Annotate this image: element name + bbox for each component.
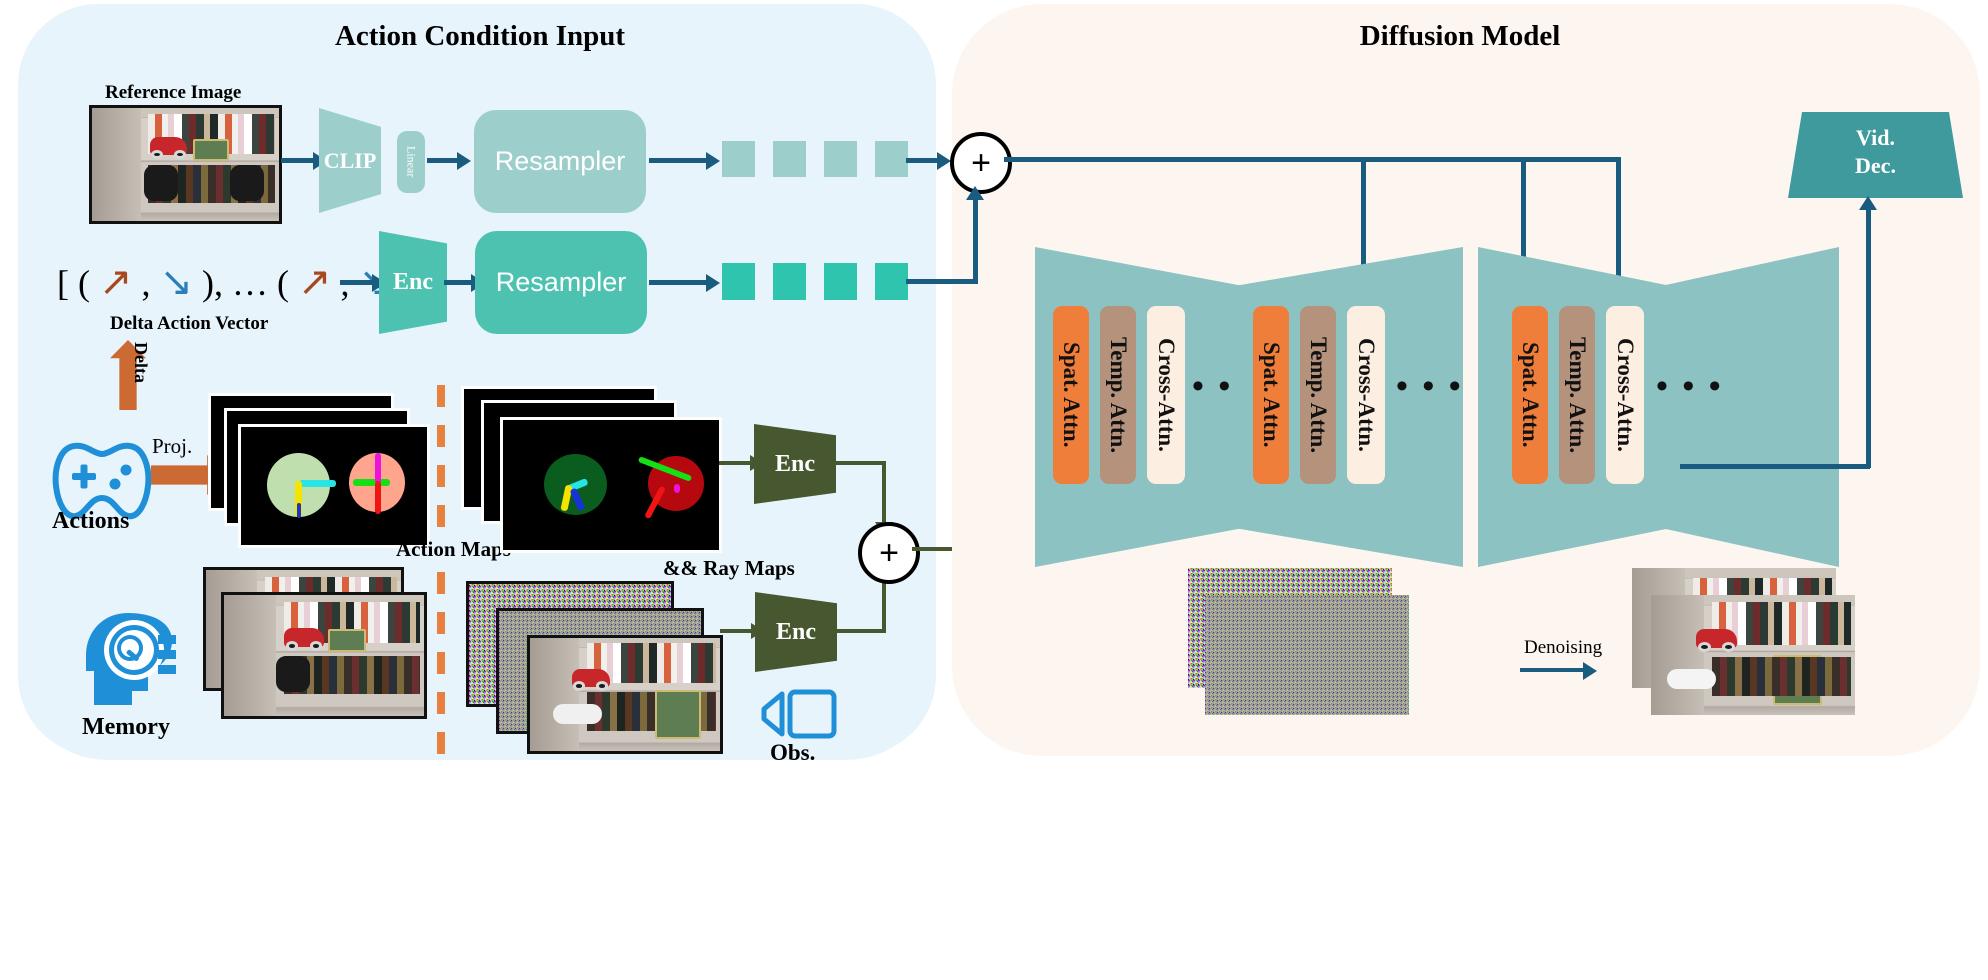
divider-action-maps — [437, 385, 445, 545]
connector-plus-upper-bus — [1004, 157, 1526, 162]
resampler-action-block[interactable]: Resampler — [475, 231, 647, 334]
unet-decoder-right-2 — [1664, 247, 1839, 567]
panel-title-action-condition: Action Condition Input — [220, 20, 740, 53]
ray-maps-label: && Ray Maps — [663, 556, 795, 581]
clip-label: CLIP — [324, 148, 377, 174]
vid-dec-line-1: Vid. — [1788, 124, 1963, 152]
connector-obs-to-enc — [720, 629, 752, 633]
connector-tokens-bottom-riser — [973, 196, 978, 284]
connector-raymaps-to-enc — [719, 461, 751, 465]
observation-encoder-block[interactable]: Enc — [755, 592, 837, 672]
cross-attention-block-1[interactable]: Cross-Attn. — [1147, 306, 1185, 484]
connector-resampler2-to-tokens — [649, 280, 707, 285]
image-token-3 — [824, 141, 857, 177]
arrowhead-linear-to-resampler — [457, 152, 471, 170]
connector-denoising — [1520, 668, 1584, 672]
spatial-attention-block-3[interactable]: Spat. Attn. — [1512, 306, 1548, 484]
ray-map-stick-magenta — [674, 484, 680, 493]
temporal-attention-label-3: Temp. Attn. — [1559, 306, 1595, 484]
denoising-label: Denoising — [1524, 637, 1602, 659]
connector-encmap-down — [882, 461, 886, 529]
enc-actionmap-label: Enc — [775, 451, 815, 478]
image-token-4 — [875, 141, 908, 177]
arrowhead-resampler2-to-tokens — [706, 274, 720, 292]
action-map-front — [238, 424, 430, 548]
action-map-stick-green — [353, 479, 390, 486]
connector-tokens-bottom-right — [906, 279, 978, 284]
spatial-attention-block-1[interactable]: Spat. Attn. — [1053, 306, 1089, 484]
ray-map-front — [500, 417, 722, 553]
proj-label: Proj. — [152, 434, 192, 459]
action-token-1 — [722, 263, 755, 300]
spatial-attention-block-2[interactable]: Spat. Attn. — [1253, 306, 1289, 484]
vid-dec-line-2: Dec. — [1788, 152, 1963, 180]
connector-linear-to-resampler — [427, 158, 457, 163]
connector-bus-extend — [1521, 157, 1621, 162]
reference-image-thumbnail — [89, 105, 282, 224]
video-decoder-block[interactable]: Vid. Dec. — [1788, 112, 1963, 198]
arrowhead-tokens-top-to-plus — [937, 152, 951, 170]
cross-attention-label-3: Cross-Attn. — [1606, 306, 1644, 484]
connector-unet-out — [1680, 464, 1870, 469]
arrowhead-resampler-to-tokens-top — [706, 152, 720, 170]
cross-attention-block-2[interactable]: Cross-Attn. — [1347, 306, 1385, 484]
obs-label: Obs. — [770, 740, 815, 766]
action-map-stick-blue — [297, 503, 301, 518]
actions-label: Actions — [52, 508, 129, 535]
linear-block[interactable]: Linear — [397, 131, 425, 193]
brain-memory-icon — [72, 605, 184, 717]
action-encoder-block[interactable]: Enc — [379, 231, 447, 334]
camera-obs-icon — [760, 686, 840, 746]
temporal-attention-label-1: Temp. Attn. — [1100, 306, 1136, 484]
connector-resampler-to-tokens-top — [649, 158, 707, 163]
temporal-attention-block-1[interactable]: Temp. Attn. — [1100, 306, 1136, 484]
image-token-2 — [773, 141, 806, 177]
connector-ref-to-clip — [281, 158, 313, 163]
connector-encobs-out — [837, 629, 886, 633]
noisy-output-frame-front — [1205, 595, 1409, 715]
spatial-attention-label-3: Spat. Attn. — [1512, 306, 1548, 484]
connector-expr-to-enc — [340, 280, 372, 285]
observation-frame-front — [527, 635, 723, 754]
action-map-stick-cyan — [299, 480, 336, 487]
connector-encmap-out — [836, 461, 886, 465]
actionmap-encoder-block[interactable]: Enc — [754, 424, 836, 504]
panel-title-diffusion-model: Diffusion Model — [1180, 20, 1740, 53]
connector-unet-out-riser — [1866, 208, 1871, 468]
arrowhead-to-vid-dec — [1859, 196, 1877, 210]
cross-attention-block-3[interactable]: Cross-Attn. — [1606, 306, 1644, 484]
memory-label: Memory — [82, 714, 170, 741]
resampler-bottom-label: Resampler — [496, 267, 627, 298]
spatial-attention-label-1: Spat. Attn. — [1053, 306, 1089, 484]
action-token-3 — [824, 263, 857, 300]
ellipsis-unet-right: • • • — [1396, 368, 1464, 406]
enc-obs-label: Enc — [776, 619, 816, 646]
delta-arrow-label: Delta — [130, 342, 151, 383]
temporal-attention-block-3[interactable]: Temp. Attn. — [1559, 306, 1595, 484]
linear-label: Linear — [404, 146, 419, 177]
connector-enc-to-resampler2 — [444, 280, 472, 285]
plus-node-upper: + — [950, 132, 1012, 194]
plus-node-lower: + — [858, 522, 920, 584]
temporal-attention-block-2[interactable]: Temp. Attn. — [1300, 306, 1336, 484]
diagram-canvas: Action Condition Input Reference Image C… — [0, 0, 1988, 980]
action-map-stick-magenta — [375, 453, 381, 484]
spatial-attention-label-2: Spat. Attn. — [1253, 306, 1289, 484]
cross-attention-label-2: Cross-Attn. — [1347, 306, 1385, 484]
arrowhead-tokens-bottom-to-plus — [966, 186, 984, 200]
image-token-1 — [722, 141, 755, 177]
memory-frame-front — [221, 592, 427, 719]
delta-action-vector-caption: Delta Action Vector — [110, 313, 268, 335]
action-map-stick-red — [375, 481, 381, 514]
cross-attention-label-1: Cross-Attn. — [1147, 306, 1185, 484]
ellipsis-unet-right-2: • • • — [1656, 368, 1724, 406]
reference-image-label: Reference Image — [105, 82, 241, 104]
action-token-4 — [875, 263, 908, 300]
enc-action-label: Enc — [393, 269, 433, 296]
resampler-image-block[interactable]: Resampler — [474, 110, 646, 213]
temporal-attention-label-2: Temp. Attn. — [1300, 306, 1336, 484]
resampler-top-label: Resampler — [495, 146, 626, 177]
divider-observations — [437, 572, 445, 772]
action-maps-label: Action Maps — [396, 537, 511, 562]
action-token-2 — [773, 263, 806, 300]
clean-output-frame-front — [1651, 595, 1855, 715]
arrowhead-denoising — [1583, 662, 1597, 680]
